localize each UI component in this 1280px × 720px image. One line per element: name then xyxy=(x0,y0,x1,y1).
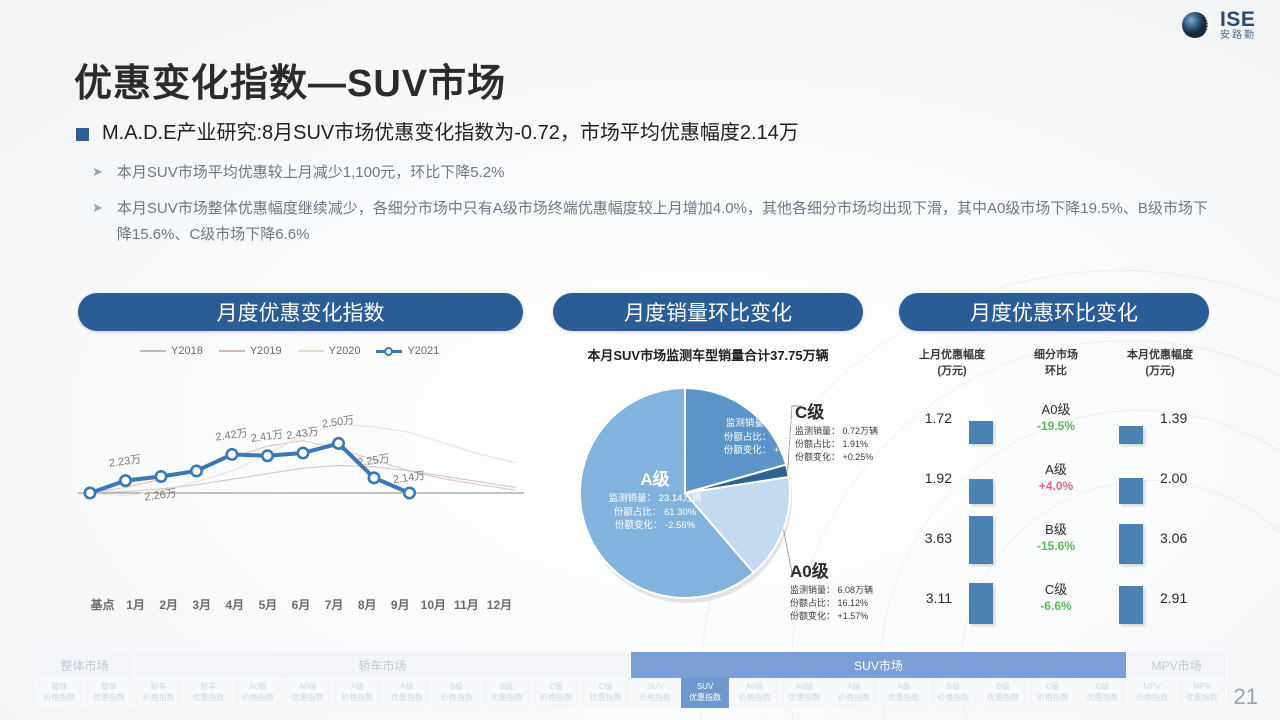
pie-label-name-A级: A级 xyxy=(590,468,720,492)
pie-label-change-C级: 份额变化： +0.25% xyxy=(795,451,905,464)
discount-row-A0级: 1.72A0级-19.5%1.39 xyxy=(900,388,1212,448)
nav-sub-l2: 价格指数 xyxy=(838,693,870,704)
legend-item-Y2021: Y2021 xyxy=(376,345,439,357)
segment-change-A级: +4.0% xyxy=(1004,479,1108,495)
pie-label-sales-C级: 监测销量： 0.72万辆 xyxy=(795,425,905,438)
legend-label-Y2021: Y2021 xyxy=(407,345,439,357)
prev-value-A级: 1.92 xyxy=(900,470,958,486)
legend-label-Y2018: Y2018 xyxy=(171,345,203,357)
curr-bar-A级 xyxy=(1119,478,1143,504)
nav-sub-MPV-价格指数[interactable]: MPV价格指数 xyxy=(1128,678,1178,708)
nav-sub-l1: B级 xyxy=(937,682,969,693)
x-tick-0: 基点 xyxy=(86,596,119,613)
curr-value-A0级: 1.39 xyxy=(1154,410,1212,426)
pie-label-name-A0级: A0级 xyxy=(790,560,910,584)
sub-bullet-2: ➤ 本月SUV市场整体优惠幅度继续减少，各细分市场中只有A级市场终端优惠幅度较上… xyxy=(92,196,1222,249)
pie-label-sales-A0级: 监测销量： 6.08万辆 xyxy=(790,584,910,597)
chevron-right-icon: ➤ xyxy=(92,200,103,216)
prev-bar-holder-A级 xyxy=(958,452,1004,504)
segment-name-A级: A级 xyxy=(1004,462,1108,479)
column-header-curr-discount-l1: 本月优惠幅度 xyxy=(1108,348,1212,364)
legend-swatch-Y2021 xyxy=(376,347,402,356)
nav-sub-B级-优惠指数[interactable]: B级优惠指数 xyxy=(482,678,532,708)
panel-title-monthly-discount-change: 月度优惠环比变化 xyxy=(899,293,1209,331)
page-number: 21 xyxy=(1234,684,1258,710)
nav-sub-l1: A0级 xyxy=(242,682,274,693)
pie-label-C级: C级监测销量： 0.72万辆份额占比： 1.91%份额变化： +0.25% xyxy=(795,401,905,463)
column-header-segment-change-l2: 环比 xyxy=(1004,364,1108,380)
slide: ISE 安路勤 优惠变化指数—SUV市场 M.A.D.E产业研究:8月SUV市场… xyxy=(0,0,1280,720)
nav-sub-l1: A0级 xyxy=(788,682,820,693)
nav-sub-l1: 轿车 xyxy=(143,682,175,693)
line-chart-x-axis: 基点1月2月3月4月5月6月7月8月9月10月11月12月 xyxy=(86,596,516,613)
pie-label-share-A级: 份额占比： 61.30% xyxy=(590,506,720,519)
nav-sub-l1: 轿车 xyxy=(192,682,224,693)
panel-title-monthly-discount-index: 月度优惠变化指数 xyxy=(78,293,523,331)
nav-sub-SUV-价格指数[interactable]: SUV价格指数 xyxy=(631,678,681,708)
x-tick-6: 6月 xyxy=(284,596,317,613)
legend-swatch-Y2018 xyxy=(140,350,166,352)
data-point-7 xyxy=(333,438,343,448)
segment-B级: B级-15.6% xyxy=(1004,522,1108,554)
discount-row-B级: 3.63B级-15.6%3.06 xyxy=(900,508,1212,568)
column-header-prev-discount-l1: 上月优惠幅度 xyxy=(900,348,1004,364)
pie-chart-subtitle: 本月SUV市场监测车型销量合计37.75万辆 xyxy=(553,345,863,364)
pie-label-name-C级: C级 xyxy=(795,401,905,425)
nav-sub-l2: 价格指数 xyxy=(143,693,175,704)
curr-bar-holder-B级 xyxy=(1108,512,1154,564)
nav-sub-l1: B级 xyxy=(441,682,473,693)
main-bullet: M.A.D.E产业研究:8月SUV市场优惠变化指数为-0.72，市场平均优惠幅度… xyxy=(76,120,799,146)
segment-name-B级: B级 xyxy=(1004,522,1108,539)
data-point-4 xyxy=(227,449,237,459)
nav-sub-l2: 优惠指数 xyxy=(292,693,324,704)
nav-sub-l2: 优惠指数 xyxy=(987,693,1019,704)
nav-sub-l2: 价格指数 xyxy=(441,693,473,704)
prev-value-B级: 3.63 xyxy=(900,530,958,546)
legend-item-Y2018: Y2018 xyxy=(140,345,203,357)
nav-sub-C级-优惠指数[interactable]: C级优惠指数 xyxy=(1078,678,1128,708)
column-header-segment-change-l1: 细分市场 xyxy=(1004,348,1108,364)
data-point-0 xyxy=(85,488,95,498)
nav-sub-l1: SUV xyxy=(639,682,671,693)
nav-sub-l2: 价格指数 xyxy=(937,693,969,704)
legend-swatch-Y2019 xyxy=(219,350,245,352)
line-chart: 2.23万2.26万2.42万2.41万2.43万2.50万2.25万2.14万 xyxy=(78,375,528,620)
nav-sub-C级-价格指数[interactable]: C级价格指数 xyxy=(532,678,582,708)
nav-sub-整体-价格指数[interactable]: 整体价格指数 xyxy=(35,678,85,708)
nav-sub-A级-价格指数[interactable]: A级价格指数 xyxy=(830,678,880,708)
pie-label-A级: A级监测销量： 23.14万辆份额占比： 61.30%份额变化： -2.56% xyxy=(590,468,720,533)
logo-name: ISE xyxy=(1220,9,1256,30)
chevron-right-icon: ➤ xyxy=(92,164,103,180)
prev-bar-holder-B级 xyxy=(958,512,1004,564)
segment-C级: C级-6.6% xyxy=(1004,582,1108,614)
prev-value-C级: 3.11 xyxy=(900,590,958,606)
nav-sub-l1: A级 xyxy=(391,682,423,693)
nav-sub-l1: MPV xyxy=(1186,682,1218,693)
legend-label-Y2019: Y2019 xyxy=(250,345,282,357)
curr-bar-A0级 xyxy=(1119,426,1143,444)
curr-bar-B级 xyxy=(1119,524,1143,564)
discount-row-A级: 1.92A级+4.0%2.00 xyxy=(900,448,1212,508)
x-tick-12: 12月 xyxy=(483,596,516,613)
nav-sub-l2: 优惠指数 xyxy=(1086,693,1118,704)
x-tick-4: 4月 xyxy=(218,596,251,613)
data-label-4: 2.42万 xyxy=(215,427,249,443)
nav-sub-l2: 价格指数 xyxy=(341,693,373,704)
prev-bar-holder-A0级 xyxy=(958,392,1004,444)
column-header-prev-discount-l2: (万元) xyxy=(900,364,1004,380)
nav-sub-A0级-价格指数[interactable]: A0级价格指数 xyxy=(234,678,284,708)
nav-sub-l2: 价格指数 xyxy=(43,693,75,704)
nav-sub-A级-优惠指数[interactable]: A级优惠指数 xyxy=(879,678,929,708)
segment-change-B级: -15.6% xyxy=(1004,539,1108,555)
prev-bar-A0级 xyxy=(969,421,993,444)
data-point-8 xyxy=(369,473,379,483)
x-tick-9: 9月 xyxy=(384,596,417,613)
legend-label-Y2020: Y2020 xyxy=(329,345,361,357)
nav-group-整体市场[interactable]: 整体市场 xyxy=(35,652,135,678)
nav-sub-l1: B级 xyxy=(987,682,1019,693)
segment-change-A0级: -19.5% xyxy=(1004,419,1108,435)
sub-bullet-1-text: 本月SUV市场平均优惠较上月减少1,100元，环比下降5.2% xyxy=(117,160,505,186)
globe-icon xyxy=(1179,8,1213,42)
nav-sub-l1: A级 xyxy=(838,682,870,693)
nav-sub-l2: 价格指数 xyxy=(540,693,572,704)
nav-sub-l1: C级 xyxy=(590,682,622,693)
data-point-5 xyxy=(262,451,272,461)
data-label-9: 2.14万 xyxy=(392,470,426,486)
nav-sub-l2: 优惠指数 xyxy=(490,693,522,704)
nav-sub-l1: C级 xyxy=(1086,682,1118,693)
main-bullet-text: M.A.D.E产业研究:8月SUV市场优惠变化指数为-0.72，市场平均优惠幅度… xyxy=(102,120,799,146)
x-tick-5: 5月 xyxy=(251,596,284,613)
nav-sub-row[interactable]: 整体价格指数整体优惠指数轿车价格指数轿车优惠指数A0级价格指数A0级优惠指数A级… xyxy=(35,678,1227,708)
nav-group-轿车市场[interactable]: 轿车市场 xyxy=(135,652,631,678)
segment-A级: A级+4.0% xyxy=(1004,462,1108,494)
segment-name-A0级: A0级 xyxy=(1004,402,1108,419)
x-tick-10: 10月 xyxy=(417,596,450,613)
x-tick-1: 1月 xyxy=(119,596,152,613)
data-point-1 xyxy=(120,475,130,485)
nav-sub-MPV-优惠指数[interactable]: MPV优惠指数 xyxy=(1177,678,1227,708)
logo-name-cn: 安路勤 xyxy=(1220,31,1256,41)
data-point-9 xyxy=(404,488,414,498)
column-header-curr-discount-l2: (万元) xyxy=(1108,364,1212,380)
page-title: 优惠变化指数—SUV市场 xyxy=(74,52,506,107)
pie-label-A0级: A0级监测销量： 6.08万辆份额占比： 16.12%份额变化： +1.57% xyxy=(790,560,910,622)
nav-sub-l2: 价格指数 xyxy=(1037,693,1069,704)
data-point-2 xyxy=(156,471,166,481)
curr-bar-C级 xyxy=(1119,586,1143,624)
pie-chart: A级监测销量： 23.14万辆份额占比： 61.30%份额变化： -2.56%B… xyxy=(540,368,930,633)
nav-sub-l2: 价格指数 xyxy=(1136,693,1168,704)
brand-logo: ISE 安路勤 xyxy=(1179,8,1256,42)
prev-value-A0级: 1.72 xyxy=(900,410,958,426)
pie-label-share-A0级: 份额占比： 16.12% xyxy=(790,597,910,610)
data-label-6: 2.43万 xyxy=(286,426,320,442)
nav-sub-A级-优惠指数[interactable]: A级优惠指数 xyxy=(383,678,433,708)
nav-sub-l1: A0级 xyxy=(292,682,324,693)
panel-title-monthly-sales-change: 月度销量环比变化 xyxy=(553,293,863,331)
data-label-7: 2.50万 xyxy=(321,414,355,430)
x-tick-3: 3月 xyxy=(185,596,218,613)
nav-sub-l2: 优惠指数 xyxy=(788,693,820,704)
nav-sub-l1: MPV xyxy=(1136,682,1168,693)
pie-label-sales-A级: 监测销量： 23.14万辆 xyxy=(590,492,720,505)
nav-sub-l2: 优惠指数 xyxy=(590,693,622,704)
data-label-1: 2.23万 xyxy=(108,453,142,469)
data-label-8: 2.25万 xyxy=(357,453,391,469)
nav-sub-l2: 价格指数 xyxy=(739,693,771,704)
nav-sub-l1: SUV xyxy=(689,682,721,693)
nav-group-MPV市场[interactable]: MPV市场 xyxy=(1127,652,1227,678)
column-header-prev-discount: 上月优惠幅度 (万元) xyxy=(900,348,1004,380)
nav-sub-l2: 优惠指数 xyxy=(888,693,920,704)
pie-label-change-A级: 份额变化： -2.56% xyxy=(590,519,720,532)
prev-bar-B级 xyxy=(969,516,993,564)
prev-bar-A级 xyxy=(969,479,993,504)
nav-sub-整体-优惠指数[interactable]: 整体优惠指数 xyxy=(85,678,135,708)
nav-sub-l2: 优惠指数 xyxy=(391,693,423,704)
nav-sub-轿车-优惠指数[interactable]: 轿车优惠指数 xyxy=(184,678,234,708)
nav-sub-l1: A级 xyxy=(341,682,373,693)
pie-label-share-C级: 份额占比： 1.91% xyxy=(795,438,905,451)
nav-sub-l2: 优惠指数 xyxy=(689,693,721,704)
prev-bar-holder-C级 xyxy=(958,572,1004,624)
nav-sub-SUV-优惠指数[interactable]: SUV优惠指数 xyxy=(681,678,731,708)
column-header-curr-discount: 本月优惠幅度 (万元) xyxy=(1108,348,1212,380)
legend-item-Y2020: Y2020 xyxy=(298,345,361,357)
square-bullet-icon xyxy=(76,128,89,141)
nav-group-SUV市场[interactable]: SUV市场 xyxy=(631,652,1127,678)
nav-sub-l1: C级 xyxy=(1037,682,1069,693)
nav-sub-l1: A级 xyxy=(888,682,920,693)
data-label-5: 2.41万 xyxy=(250,429,284,445)
nav-sub-l2: 优惠指数 xyxy=(1186,693,1218,704)
x-tick-2: 2月 xyxy=(152,596,185,613)
nav-sub-l2: 价格指数 xyxy=(639,693,671,704)
discount-row-C级: 3.11C级-6.6%2.91 xyxy=(900,568,1212,628)
legend-item-Y2019: Y2019 xyxy=(219,345,282,357)
segment-name-C级: C级 xyxy=(1004,582,1108,599)
nav-sub-l2: 优惠指数 xyxy=(93,693,125,704)
curr-bar-holder-A级 xyxy=(1108,452,1154,504)
segment-A0级: A0级-19.5% xyxy=(1004,402,1108,434)
data-point-3 xyxy=(191,466,201,476)
nav-sub-A级-价格指数[interactable]: A级价格指数 xyxy=(333,678,383,708)
nav-sub-轿车-价格指数[interactable]: 轿车价格指数 xyxy=(134,678,184,708)
curr-bar-holder-C级 xyxy=(1108,572,1154,624)
x-tick-11: 11月 xyxy=(450,596,483,613)
sub-bullet-1: ➤ 本月SUV市场平均优惠较上月减少1,100元，环比下降5.2% xyxy=(92,160,504,186)
data-point-6 xyxy=(298,448,308,458)
nav-sub-l1: 整体 xyxy=(93,682,125,693)
nav-sub-A0级-优惠指数[interactable]: A0级优惠指数 xyxy=(780,678,830,708)
curr-value-A级: 2.00 xyxy=(1154,470,1212,486)
column-header-segment-change: 细分市场 环比 xyxy=(1004,348,1108,380)
x-tick-7: 7月 xyxy=(318,596,351,613)
x-tick-8: 8月 xyxy=(351,596,384,613)
bottom-navigation[interactable]: 整体市场轿车市场SUV市场MPV市场 整体价格指数整体优惠指数轿车价格指数轿车优… xyxy=(35,652,1227,708)
pie-label-change-A0级: 份额变化： +1.57% xyxy=(790,610,910,623)
nav-sub-C级-优惠指数[interactable]: C级优惠指数 xyxy=(581,678,631,708)
nav-sub-B级-价格指数[interactable]: B级价格指数 xyxy=(929,678,979,708)
curr-bar-holder-A0级 xyxy=(1108,392,1154,444)
nav-sub-B级-优惠指数[interactable]: B级优惠指数 xyxy=(979,678,1029,708)
nav-sub-l1: A0级 xyxy=(739,682,771,693)
nav-group-row[interactable]: 整体市场轿车市场SUV市场MPV市场 xyxy=(35,652,1227,678)
prev-bar-C级 xyxy=(969,583,993,624)
nav-sub-l2: 价格指数 xyxy=(242,693,274,704)
legend-swatch-Y2020 xyxy=(298,350,324,352)
nav-sub-B级-价格指数[interactable]: B级价格指数 xyxy=(432,678,482,708)
sub-bullet-2-text: 本月SUV市场整体优惠幅度继续减少，各细分市场中只有A级市场终端优惠幅度较上月增… xyxy=(117,196,1222,249)
nav-sub-A0级-优惠指数[interactable]: A0级优惠指数 xyxy=(283,678,333,708)
curr-value-B级: 3.06 xyxy=(1154,530,1212,546)
nav-sub-l1: B级 xyxy=(490,682,522,693)
nav-sub-l1: C级 xyxy=(540,682,572,693)
segment-change-C级: -6.6% xyxy=(1004,599,1108,615)
nav-sub-C级-价格指数[interactable]: C级价格指数 xyxy=(1028,678,1078,708)
nav-sub-l2: 优惠指数 xyxy=(192,693,224,704)
line-chart-legend: Y2018Y2019Y2020Y2021 xyxy=(140,345,439,357)
nav-sub-l1: 整体 xyxy=(43,682,75,693)
curr-value-C级: 2.91 xyxy=(1154,590,1212,606)
nav-sub-A0级-价格指数[interactable]: A0级价格指数 xyxy=(730,678,780,708)
